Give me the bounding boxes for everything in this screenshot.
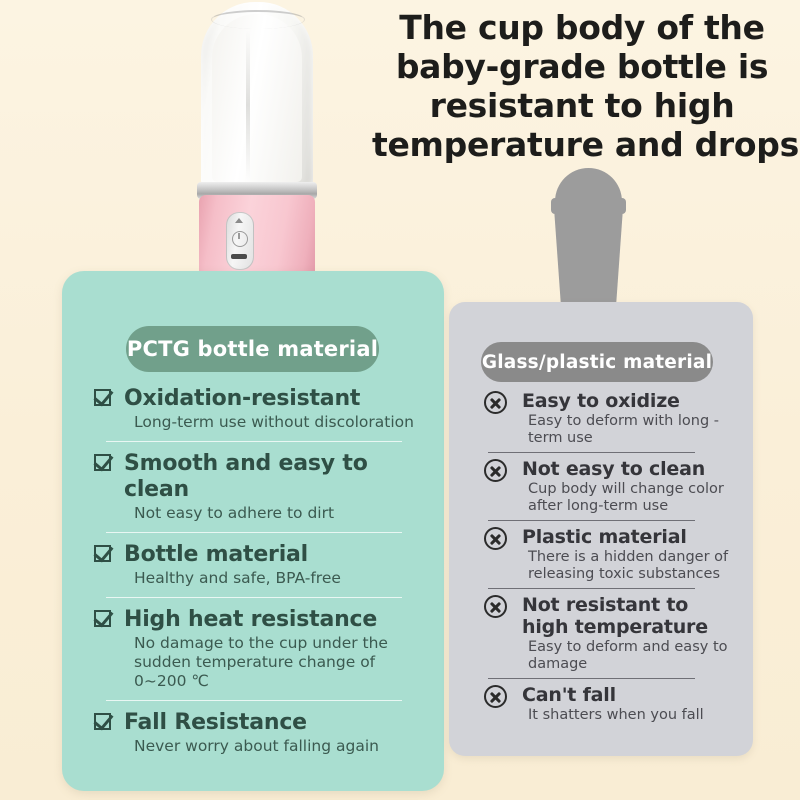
pctg-feature-list: Oxidation-resistant Long-term use withou… [94,386,424,765]
headline-line-3: resistant to high [372,86,792,125]
feature-subtitle: Not easy to adhere to dirt [124,504,424,523]
x-icon [484,595,507,618]
blender-cup-highlight [246,30,250,180]
drawback-subtitle: Easy to deform and easy to damage [522,639,736,673]
divider [106,597,402,598]
drawback-title: Not resistant to high temperature [522,594,736,638]
check-icon [94,610,111,627]
list-item: Easy to oxidize Easy to deform with long… [484,390,736,447]
drawback-title: Not easy to clean [522,458,736,480]
list-item: High heat resistance No damage to the cu… [94,607,424,691]
x-icon [484,685,507,708]
glass-plastic-material-panel: Glass/plastic material Easy to oxidize E… [449,302,753,756]
x-icon [484,459,507,482]
blender-charge-port [231,254,247,259]
drawback-subtitle: Cup body will change color after long-te… [522,481,736,515]
feature-subtitle: Never worry about falling again [124,737,424,756]
headline-line-1: The cup body of the [372,8,792,47]
x-icon [484,527,507,550]
feature-title: Smooth and easy to clean [124,451,424,503]
power-icon [232,231,248,247]
list-item: Plastic material There is a hidden dange… [484,526,736,583]
drawback-subtitle: There is a hidden danger of releasing to… [522,549,736,583]
silhouette-lid [555,168,622,224]
feature-title: Bottle material [124,542,424,568]
blender-cup-rim [211,10,305,29]
glass-plastic-drawback-list: Easy to oxidize Easy to deform with long… [484,390,736,729]
feature-subtitle: Long-term use without discoloration [124,413,424,432]
list-item: Not resistant to high temperature Easy t… [484,594,736,673]
check-icon [94,713,111,730]
divider [106,700,402,701]
list-item: Can't fall It shatters when you fall [484,684,736,724]
divider [488,588,695,589]
drawback-subtitle: It shatters when you fall [522,707,736,724]
check-icon [94,389,111,406]
list-item: Fall Resistance Never worry about fallin… [94,710,424,756]
drawback-title: Plastic material [522,526,736,548]
feature-subtitle: Healthy and safe, BPA-free [124,569,424,588]
divider [488,520,695,521]
divider [106,532,402,533]
feature-subtitle: No damage to the cup under the sudden te… [124,634,424,691]
divider [488,678,695,679]
check-icon [94,545,111,562]
list-item: Smooth and easy to clean Not easy to adh… [94,451,424,523]
list-item: Not easy to clean Cup body will change c… [484,458,736,515]
infographic-canvas: The cup body of the baby-grade bottle is… [0,0,800,800]
x-icon [484,391,507,414]
headline-line-2: baby-grade bottle is [372,47,792,86]
divider [106,441,402,442]
portable-blender-image [183,0,331,294]
headline-line-4: temperature and drops [372,125,792,164]
drawback-subtitle: Easy to deform with long -term use [522,413,736,447]
feature-title: Fall Resistance [124,710,424,736]
glass-plastic-panel-title: Glass/plastic material [481,342,713,382]
check-icon [94,454,111,471]
feature-title: High heat resistance [124,607,424,633]
list-item: Oxidation-resistant Long-term use withou… [94,386,424,432]
page-title: The cup body of the baby-grade bottle is… [372,8,792,164]
list-item: Bottle material Healthy and safe, BPA-fr… [94,542,424,588]
divider [488,452,695,453]
drawback-title: Easy to oxidize [522,390,736,412]
blender-cup-inner [212,14,302,182]
triangle-icon [235,218,243,223]
drawback-title: Can't fall [522,684,736,706]
feature-title: Oxidation-resistant [124,386,424,412]
pctg-material-panel: PCTG bottle material Oxidation-resistant… [62,271,444,791]
pctg-panel-title: PCTG bottle material [126,326,379,372]
